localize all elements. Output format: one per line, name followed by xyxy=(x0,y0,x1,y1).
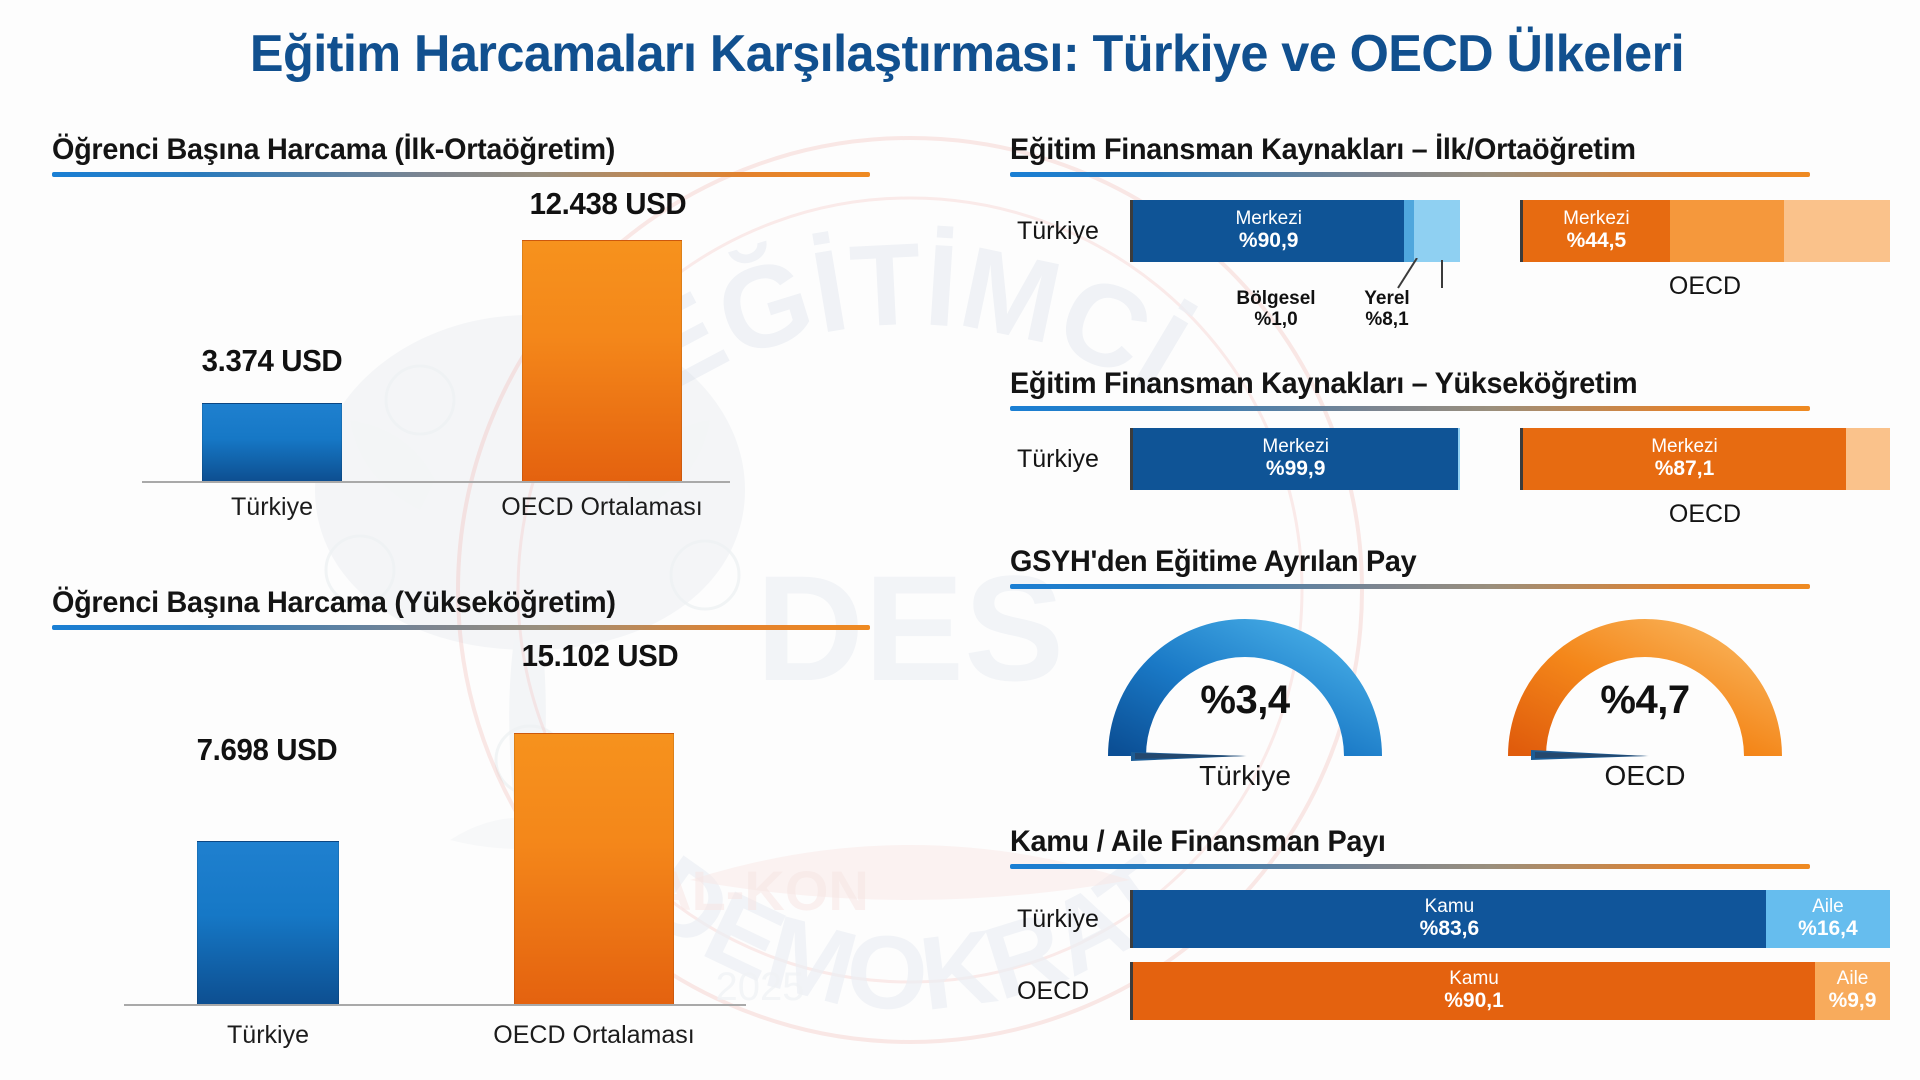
segment-value: %87,1 xyxy=(1655,457,1715,480)
segment-name: Merkezi xyxy=(1563,209,1630,229)
page-title: Eğitim Harcamaları Karşılaştırması: Türk… xyxy=(79,24,1854,84)
section-header-finance-tertiary: Eğitim Finansman Kaynakları – Yükseköğre… xyxy=(1010,367,1810,411)
bar-value-turkiye: 7.698 USD xyxy=(158,732,377,768)
segment-tertiary[interactable] xyxy=(1784,200,1890,262)
leader-lines xyxy=(1130,258,1470,292)
section-title-spend-tertiary: Öğrenci Başına Harcama (Yükseköğretim) xyxy=(52,586,837,620)
bar-value-oecd: 15.102 USD xyxy=(478,638,721,674)
chart-finance-tertiary: Türkiye Merkezi %99,9 Merkezi %87,1 OECD xyxy=(1010,428,1890,490)
section-rule xyxy=(1010,864,1810,869)
chart-finance-primary: Türkiye Merkezi %90,9 Bölgesel %1,0 Yere… xyxy=(1010,200,1890,262)
segment-aile[interactable]: Aile %16,4 xyxy=(1766,890,1890,948)
stacked-bar-oecd: Merkezi %87,1 xyxy=(1520,428,1890,490)
segment-other[interactable] xyxy=(1846,428,1890,490)
section-rule xyxy=(52,625,870,630)
row-label-oecd: OECD xyxy=(1580,272,1830,301)
row-label-turkiye: Türkiye xyxy=(1017,905,1099,934)
bar-value-oecd: 12.438 USD xyxy=(486,186,729,222)
gauge-value-turkiye: %3,4 xyxy=(1095,678,1395,723)
section-header-spend-primary: Öğrenci Başına Harcama (İlk-Ortaöğretim) xyxy=(52,133,870,177)
bar-value-turkiye: 3.374 USD xyxy=(168,343,377,379)
gauge-label-turkiye: Türkiye xyxy=(1095,760,1395,792)
section-title-finance-tertiary: Eğitim Finansman Kaynakları – Yükseköğre… xyxy=(1010,367,1778,401)
segment-name: Aile xyxy=(1837,969,1869,989)
section-header-gdp-share: GSYH'den Eğitime Ayrılan Pay xyxy=(1010,545,1810,589)
section-title-public-family: Kamu / Aile Finansman Payı xyxy=(1010,825,1778,859)
infographic-canvas: EĞİTİMCİ DEMOKRAT DES AL-KON 2025 Eğitim… xyxy=(0,0,1920,1080)
section-title-spend-primary: Öğrenci Başına Harcama (İlk-Ortaöğretim) xyxy=(52,133,837,167)
axis-line xyxy=(142,481,730,483)
segment-other[interactable] xyxy=(1458,428,1460,490)
callout-name: Bölgesel xyxy=(1206,288,1346,309)
segment-yerel[interactable] xyxy=(1414,200,1460,262)
segment-value: %9,9 xyxy=(1829,989,1877,1012)
segment-bolgesel[interactable] xyxy=(1404,200,1414,262)
section-header-finance-primary: Eğitim Finansman Kaynakları – İlk/Ortaöğ… xyxy=(1010,133,1810,177)
bar-turkiye[interactable] xyxy=(202,403,342,482)
bar-oecd[interactable] xyxy=(522,240,682,482)
stacked-bar-turkiye: Merkezi %90,9 xyxy=(1130,200,1460,262)
segment-name: Merkezi xyxy=(1262,437,1329,457)
segment-merkezi[interactable]: Merkezi %90,9 xyxy=(1133,200,1404,262)
chart-public-family-turkiye: Türkiye Kamu %83,6 Aile %16,4 xyxy=(1010,890,1890,948)
chart-public-family-oecd: OECD Kamu %90,1 Aile %9,9 xyxy=(1010,962,1890,1020)
gauge-label-oecd: OECD xyxy=(1495,760,1795,792)
gauge-value-oecd: %4,7 xyxy=(1495,678,1795,723)
segment-name: Aile xyxy=(1812,897,1844,917)
callout-yerel: Yerel %8,1 xyxy=(1332,288,1442,331)
section-rule xyxy=(1010,172,1810,177)
row-label-turkiye: Türkiye xyxy=(1017,445,1099,474)
category-label-turkiye: Türkiye xyxy=(162,493,382,522)
segment-name: Merkezi xyxy=(1235,209,1302,229)
callout-bolgesel: Bölgesel %1,0 xyxy=(1206,288,1346,331)
category-label-turkiye: Türkiye xyxy=(158,1021,378,1050)
gauge-turkiye: %3,4 Türkiye xyxy=(1095,614,1395,794)
segment-value: %83,6 xyxy=(1420,917,1480,940)
segment-name: Kamu xyxy=(1425,897,1475,917)
segment-kamu[interactable]: Kamu %83,6 xyxy=(1133,890,1766,948)
stacked-bar-oecd: Kamu %90,1 Aile %9,9 xyxy=(1130,962,1890,1020)
category-label-oecd: OECD Ortalaması xyxy=(454,1021,734,1050)
callout-value: %8,1 xyxy=(1332,309,1442,330)
section-title-finance-primary: Eğitim Finansman Kaynakları – İlk/Ortaöğ… xyxy=(1010,133,1778,167)
section-rule xyxy=(1010,406,1810,411)
segment-name: Kamu xyxy=(1449,969,1499,989)
axis-line xyxy=(124,1004,746,1006)
row-label-turkiye: Türkiye xyxy=(1017,217,1099,246)
segment-value: %44,5 xyxy=(1567,229,1627,252)
callout-name: Yerel xyxy=(1332,288,1442,309)
segment-value: %90,9 xyxy=(1239,229,1299,252)
bar-turkiye[interactable] xyxy=(197,841,339,1005)
chart-spend-tertiary: 7.698 USD 15.102 USD Türkiye OECD Ortala… xyxy=(52,648,870,1060)
row-label-oecd: OECD xyxy=(1017,977,1089,1006)
segment-value: %90,1 xyxy=(1444,989,1504,1012)
segment-kamu[interactable]: Kamu %90,1 xyxy=(1133,962,1815,1020)
segment-merkezi[interactable]: Merkezi %99,9 xyxy=(1133,428,1458,490)
row-label-oecd: OECD xyxy=(1580,500,1830,529)
segment-merkezi[interactable]: Merkezi %44,5 xyxy=(1523,200,1670,262)
category-label-oecd: OECD Ortalaması xyxy=(462,493,742,522)
segment-value: %16,4 xyxy=(1798,917,1858,940)
segment-merkezi[interactable]: Merkezi %87,1 xyxy=(1523,428,1846,490)
section-rule xyxy=(52,172,870,177)
gauge-oecd: %4,7 OECD xyxy=(1495,614,1795,794)
segment-secondary[interactable] xyxy=(1670,200,1784,262)
section-header-public-family: Kamu / Aile Finansman Payı xyxy=(1010,825,1810,869)
section-header-spend-tertiary: Öğrenci Başına Harcama (Yükseköğretim) xyxy=(52,586,870,630)
chart-spend-primary: 3.374 USD 12.438 USD Türkiye OECD Ortala… xyxy=(52,196,870,526)
section-title-gdp-share: GSYH'den Eğitime Ayrılan Pay xyxy=(1010,545,1778,579)
segment-aile[interactable]: Aile %9,9 xyxy=(1815,962,1890,1020)
segment-name: Merkezi xyxy=(1651,437,1718,457)
section-rule xyxy=(1010,584,1810,589)
callout-value: %1,0 xyxy=(1206,309,1346,330)
bar-oecd[interactable] xyxy=(514,733,674,1005)
segment-value: %99,9 xyxy=(1266,457,1326,480)
stacked-bar-oecd: Merkezi %44,5 xyxy=(1520,200,1890,262)
stacked-bar-turkiye: Kamu %83,6 Aile %16,4 xyxy=(1130,890,1890,948)
stacked-bar-turkiye: Merkezi %99,9 xyxy=(1130,428,1460,490)
